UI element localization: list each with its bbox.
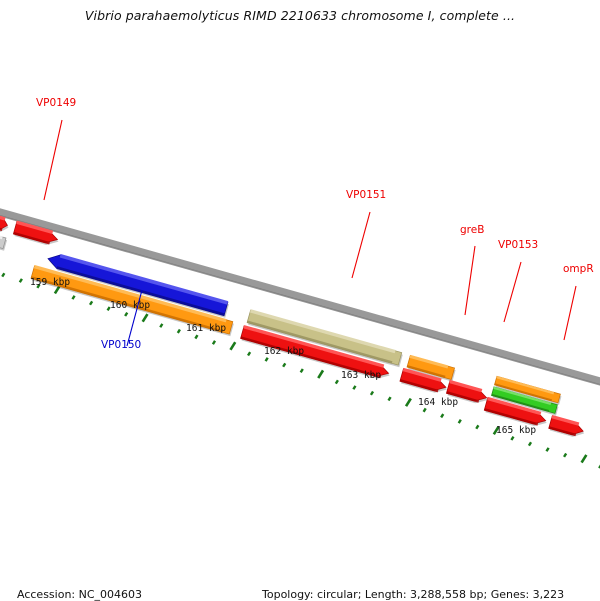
axis-tick-minor xyxy=(266,358,268,361)
gene-label-VP0153[interactable]: VP0153 xyxy=(498,239,538,322)
gene-label-VP0151[interactable]: VP0151 xyxy=(346,189,386,278)
axis-tick-minor xyxy=(546,448,548,451)
genome-viewer: Vibrio parahaemolyticus RIMD 2210633 chr… xyxy=(0,0,600,600)
axis-tick-major xyxy=(143,314,148,322)
gene-label-text[interactable]: VP0153 xyxy=(498,239,538,251)
gene-label-text[interactable]: ompR xyxy=(563,263,594,275)
axis-tick-minor xyxy=(441,414,443,417)
axis-tick-minor xyxy=(476,425,478,428)
axis-tick-minor xyxy=(72,296,74,299)
axis-tick-minor xyxy=(125,313,127,316)
axis-tick-label: 159 kbp xyxy=(30,277,70,288)
axis-tick-minor xyxy=(178,330,180,333)
axis-tick-minor xyxy=(195,335,197,338)
axis-tick-minor xyxy=(336,380,338,383)
sequence-map-canvas[interactable]: 159 kbp160 kbp161 kbp162 kbp163 kbp164 k… xyxy=(0,0,600,600)
axis-tick-minor xyxy=(301,369,303,372)
gene-label-text[interactable]: VP0150 xyxy=(101,339,141,351)
axis-tick-minor xyxy=(529,442,531,445)
axis-tick-minor xyxy=(353,386,355,389)
axis-tick-minor xyxy=(20,279,22,282)
gene-label-text[interactable]: VP0149 xyxy=(36,97,76,109)
axis-tick-label: 162 kbp xyxy=(264,346,304,357)
axis-tick-minor xyxy=(213,341,215,344)
axis-tick-label: 160 kbp xyxy=(110,300,150,311)
axis-tick-major xyxy=(318,370,323,378)
axis-tick-label: 163 kbp xyxy=(341,370,381,381)
axis-tick-minor xyxy=(424,408,426,411)
axis-tick-minor xyxy=(90,301,92,304)
accession-text: Accession: NC_004603 xyxy=(17,588,142,601)
axis-tick-minor xyxy=(2,273,4,276)
axis-tick-minor xyxy=(459,420,461,423)
features-group[interactable] xyxy=(0,213,584,437)
axis-tick-minor xyxy=(283,363,285,366)
gene-label-leader-line xyxy=(564,286,576,340)
axis-tick-minor xyxy=(564,453,566,456)
axis-tick-minor xyxy=(248,352,250,355)
gene-label-text[interactable]: greB xyxy=(460,224,484,236)
gene-label-VP0149[interactable]: VP0149 xyxy=(36,97,76,200)
axis-tick-major xyxy=(582,455,587,463)
axis-tick-label: 164 kbp xyxy=(418,397,458,408)
gene-label-leader-line xyxy=(504,262,521,322)
axis-tick-label: 161 kbp xyxy=(186,323,226,334)
gene-label-leader-line xyxy=(465,246,475,315)
axis-tick-minor xyxy=(388,397,390,400)
feature-vp0155-partial[interactable] xyxy=(549,416,585,437)
gene-label-greB[interactable]: greB xyxy=(460,224,484,315)
gene-label-leader-line xyxy=(352,212,370,278)
axis-tick-minor xyxy=(371,392,373,395)
axis-tick-minor xyxy=(160,324,162,327)
axis-tick-major xyxy=(406,399,411,407)
topology-text: Topology: circular; Length: 3,288,558 bp… xyxy=(262,588,564,601)
backbone-line xyxy=(0,207,600,390)
gene-label-text[interactable]: VP0151 xyxy=(346,189,386,201)
axis-tick-label: 165 kbp xyxy=(496,425,536,436)
gene-label-ompR[interactable]: ompR xyxy=(563,263,594,340)
axis-tick-minor xyxy=(511,437,513,440)
gene-label-leader-line xyxy=(44,120,62,200)
axis-tick-major xyxy=(230,342,235,350)
feature-gray-edge[interactable] xyxy=(0,233,7,251)
gene-labels-group[interactable]: VP0149VP0150VP0151greBVP0153ompR xyxy=(36,97,594,351)
